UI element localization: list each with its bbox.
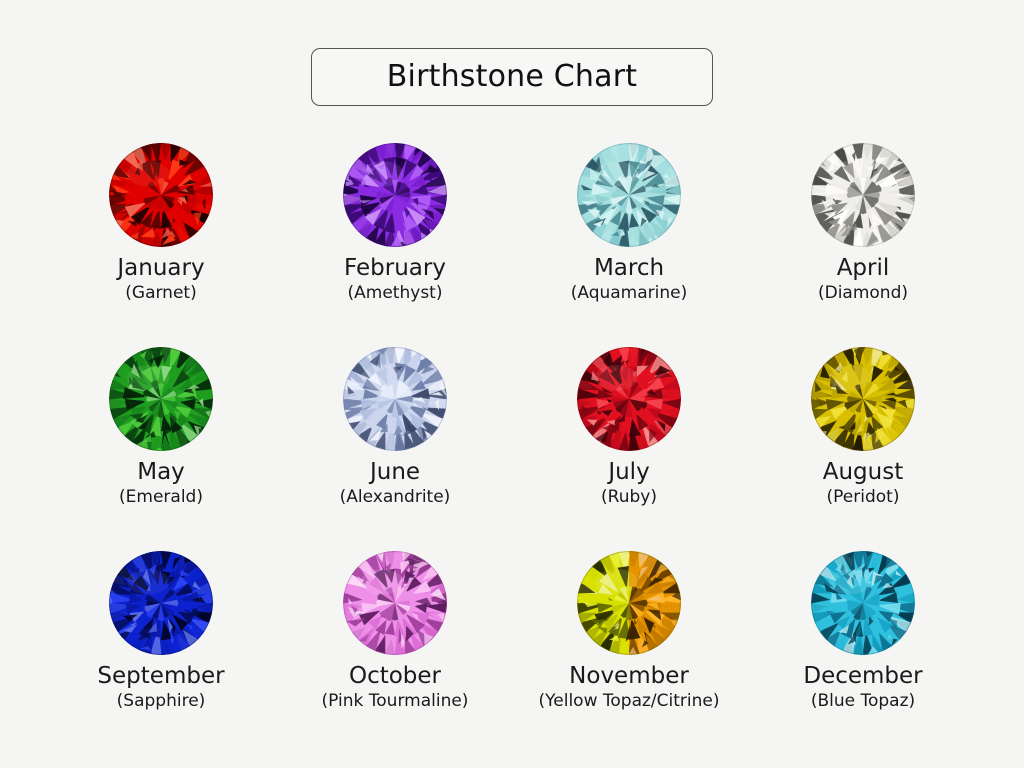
stone-name-label: (Sapphire) xyxy=(117,692,206,712)
stone-name-label: (Pink Tourmaline) xyxy=(322,692,469,712)
stone-name-label: (Yellow Topaz/Citrine) xyxy=(539,692,720,712)
gem-icon xyxy=(108,550,214,656)
gem-icon xyxy=(576,346,682,452)
month-label: September xyxy=(97,664,224,688)
gem-icon xyxy=(342,550,448,656)
gem-may-icon xyxy=(108,346,214,452)
birthstone-cell[interactable]: August(Peridot) xyxy=(746,346,980,550)
stone-name-label: (Amethyst) xyxy=(348,284,443,304)
stone-name-label: (Blue Topaz) xyxy=(811,692,915,712)
birthstone-cell[interactable]: April(Diamond) xyxy=(746,142,980,346)
gem-october-icon xyxy=(342,550,448,656)
month-label: January xyxy=(117,256,204,280)
gem-icon xyxy=(342,142,448,248)
month-label: May xyxy=(137,460,185,484)
birthstone-cell[interactable]: July(Ruby) xyxy=(512,346,746,550)
stone-name-label: (Peridot) xyxy=(827,488,900,508)
gem-icon xyxy=(342,346,448,452)
page-title: Birthstone Chart xyxy=(387,62,637,92)
birthstone-cell[interactable]: March(Aquamarine) xyxy=(512,142,746,346)
stone-name-label: (Aquamarine) xyxy=(571,284,688,304)
gem-february-icon xyxy=(342,142,448,248)
gem-icon xyxy=(810,550,916,656)
gem-july-icon xyxy=(576,346,682,452)
gem-april-icon xyxy=(810,142,916,248)
stone-name-label: (Ruby) xyxy=(601,488,657,508)
gem-icon xyxy=(810,346,916,452)
gem-september-icon xyxy=(108,550,214,656)
gem-icon-split xyxy=(576,550,682,656)
stone-name-label: (Emerald) xyxy=(119,488,203,508)
birthstone-cell[interactable]: February(Amethyst) xyxy=(278,142,512,346)
gem-icon xyxy=(108,346,214,452)
month-label: February xyxy=(344,256,446,280)
gem-icon xyxy=(108,142,214,248)
month-label: November xyxy=(569,664,689,688)
month-label: October xyxy=(349,664,441,688)
gem-january-icon xyxy=(108,142,214,248)
month-label: April xyxy=(837,256,890,280)
month-label: July xyxy=(608,460,649,484)
gem-icon xyxy=(576,142,682,248)
birthstone-grid: January(Garnet)February(Amethyst)March(A… xyxy=(44,142,980,754)
stone-name-label: (Diamond) xyxy=(818,284,908,304)
birthstone-cell[interactable]: November(Yellow Topaz/Citrine) xyxy=(512,550,746,754)
month-label: August xyxy=(823,460,904,484)
gem-december-icon xyxy=(810,550,916,656)
birthstone-cell[interactable]: October(Pink Tourmaline) xyxy=(278,550,512,754)
birthstone-cell[interactable]: May(Emerald) xyxy=(44,346,278,550)
month-label: December xyxy=(803,664,922,688)
gem-icon xyxy=(810,142,916,248)
gem-june-icon xyxy=(342,346,448,452)
stone-name-label: (Alexandrite) xyxy=(340,488,451,508)
gem-november-icon xyxy=(576,550,682,656)
chart-title-container: Birthstone Chart xyxy=(311,48,713,106)
birthstone-cell[interactable]: June(Alexandrite) xyxy=(278,346,512,550)
month-label: March xyxy=(594,256,664,280)
stone-name-label: (Garnet) xyxy=(125,284,196,304)
birthstone-cell[interactable]: September(Sapphire) xyxy=(44,550,278,754)
month-label: June xyxy=(370,460,420,484)
gem-march-icon xyxy=(576,142,682,248)
birthstone-cell[interactable]: January(Garnet) xyxy=(44,142,278,346)
gem-august-icon xyxy=(810,346,916,452)
birthstone-cell[interactable]: December(Blue Topaz) xyxy=(746,550,980,754)
